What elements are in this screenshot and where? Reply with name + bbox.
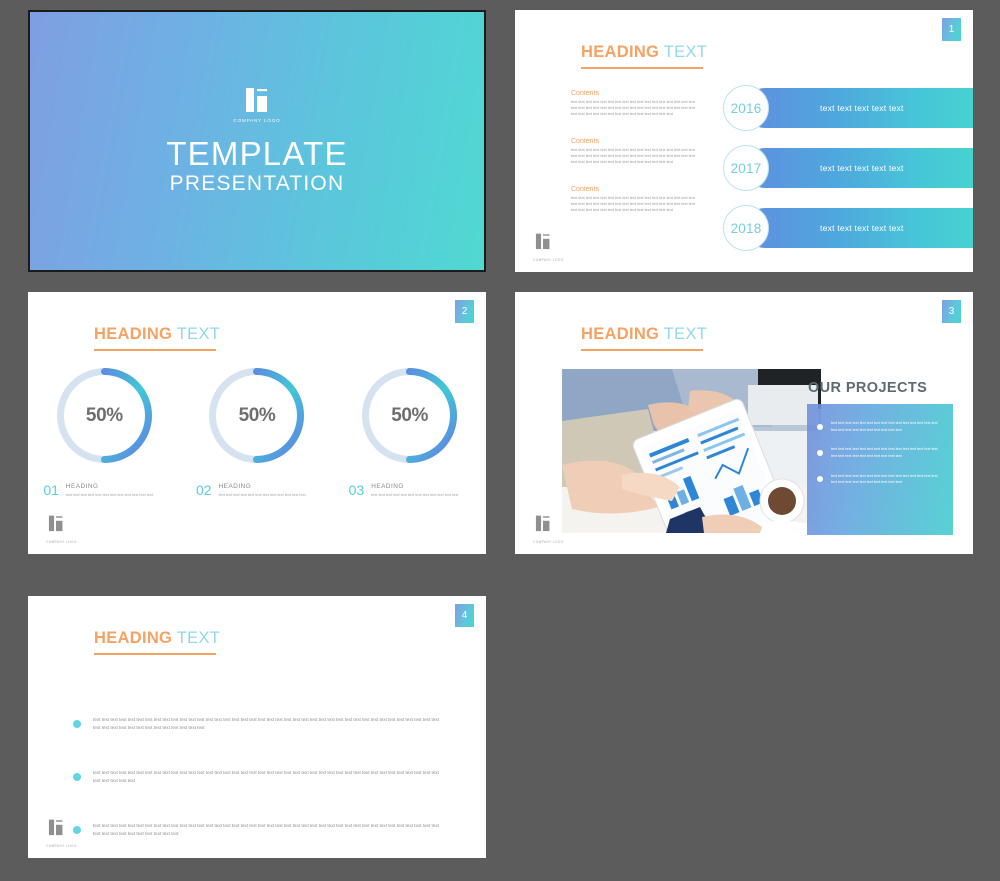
bullet-text: text text text text text text text text … <box>93 716 446 732</box>
donut-caption: 01 HEADING text text text text text text… <box>43 483 165 498</box>
footer-logo-caption: COMPANY LOGO <box>46 540 77 544</box>
panel-text: text text text text text text text text … <box>831 446 943 459</box>
slide-1-timeline[interactable]: 1 HEADING TEXT Contents text text text t… <box>515 10 973 272</box>
heading-light: TEXT <box>664 325 707 343</box>
bullet-row: text text text text text text text text … <box>73 822 446 838</box>
page-badge: 2 <box>455 300 474 323</box>
page-badge: 1 <box>942 18 961 41</box>
bullet-row: text text text text text text text text … <box>73 769 446 785</box>
donut-cell: 50% 03 HEADING text text text text text … <box>345 364 475 498</box>
slide-deck-overview: COMPANY LOGO TEMPLATE PRESENTATION 1 HEA… <box>0 0 1000 881</box>
contents-body: text text text text text text text text … <box>571 195 701 213</box>
contents-block: Contents text text text text text text t… <box>571 138 701 165</box>
timeline-bar: text text text text text <box>745 208 973 248</box>
contents-column: Contents text text text text text text t… <box>571 90 701 234</box>
donut-heading: HEADING <box>219 483 306 490</box>
donut-percent-label: 50% <box>53 364 156 467</box>
bullet-row: text text text text text text text text … <box>73 716 446 732</box>
heading-strong: HEADING <box>581 43 659 61</box>
donut-body: text text text text text text text text … <box>66 492 153 498</box>
company-logo-icon <box>533 233 553 251</box>
projects-panel: text text text text text text text text … <box>807 404 953 535</box>
timeline-row[interactable]: text text text text text 2017 <box>723 145 973 190</box>
contents-block: Contents text text text text text text t… <box>571 186 701 213</box>
donut-percent-label: 50% <box>358 364 461 467</box>
donut-body: text text text text text text text text … <box>371 492 458 498</box>
heading-underline <box>581 67 703 69</box>
timeline-year-circle: 2017 <box>723 145 769 191</box>
donut-cell: 50% 02 HEADING text text text text text … <box>192 364 322 498</box>
logo-caption: COMPANY LOGO <box>234 118 281 123</box>
timeline-text: text text text text text <box>820 223 904 233</box>
page-badge: 4 <box>455 604 474 627</box>
timeline-year-circle: 2018 <box>723 205 769 251</box>
contents-title: Contents <box>571 138 701 145</box>
company-logo-icon <box>533 515 553 533</box>
slide-heading: HEADING TEXT <box>94 629 220 648</box>
timeline-bar: text text text text text <box>745 148 973 188</box>
donut-index: 02 <box>196 483 212 497</box>
heading-underline <box>581 349 703 351</box>
presentation-title: TEMPLATE <box>166 137 347 172</box>
bullet-dot-icon <box>817 476 823 482</box>
donut-chart: 50% <box>53 364 156 467</box>
slide-4-bullets[interactable]: 4 HEADING TEXT text text text text text … <box>28 596 486 858</box>
contents-title: Contents <box>571 186 701 193</box>
bullet-dot-icon <box>817 424 823 430</box>
footer-logo-caption: COMPANY LOGO <box>46 844 77 848</box>
donut-body: text text text text text text text text … <box>219 492 306 498</box>
slide-heading: HEADING TEXT <box>581 325 707 344</box>
heading-strong: HEADING <box>94 629 172 647</box>
footer-logo-caption: COMPANY LOGO <box>533 258 564 262</box>
panel-item: text text text text text text text text … <box>817 420 943 433</box>
donut-cell: 50% 01 HEADING text text text text text … <box>39 364 169 498</box>
heading-strong: HEADING <box>581 325 659 343</box>
projects-title: OUR PROJECTS <box>808 380 927 396</box>
heading-underline <box>94 653 216 655</box>
timeline-bar: text text text text text <box>745 88 973 128</box>
donut-chart: 50% <box>358 364 461 467</box>
heading-underline <box>94 349 216 351</box>
donut-heading: HEADING <box>371 483 458 490</box>
contents-block: Contents text text text text text text t… <box>571 90 701 117</box>
slide-title[interactable]: COMPANY LOGO TEMPLATE PRESENTATION <box>28 10 486 272</box>
slide-heading: HEADING TEXT <box>581 43 707 62</box>
contents-body: text text text text text text text text … <box>571 147 701 165</box>
bullet-dot-icon <box>817 450 823 456</box>
footer-logo: COMPANY LOGO <box>46 515 77 544</box>
timeline-year-circle: 2016 <box>723 85 769 131</box>
heading-light: TEXT <box>664 43 707 61</box>
company-logo-icon <box>46 819 66 837</box>
timeline-row[interactable]: text text text text text 2018 <box>723 205 973 250</box>
footer-logo-caption: COMPANY LOGO <box>533 540 564 544</box>
heading-strong: HEADING <box>94 325 172 343</box>
timeline-text: text text text text text <box>820 103 904 113</box>
donut-index: 01 <box>43 483 59 497</box>
timeline-text: text text text text text <box>820 163 904 173</box>
donut-row: 50% 01 HEADING text text text text text … <box>28 364 486 498</box>
footer-logo: COMPANY LOGO <box>533 233 564 262</box>
slide-heading: HEADING TEXT <box>94 325 220 344</box>
photo-illustration <box>562 369 821 533</box>
project-photo <box>562 369 821 533</box>
footer-logo: COMPANY LOGO <box>533 515 564 544</box>
company-logo-icon <box>242 87 272 115</box>
contents-body: text text text text text text text text … <box>571 99 701 117</box>
donut-chart: 50% <box>205 364 308 467</box>
bullet-list: text text text text text text text text … <box>73 716 446 858</box>
donut-caption: 02 HEADING text text text text text text… <box>196 483 318 498</box>
timeline-row[interactable]: text text text text text 2016 <box>723 85 973 130</box>
slide-3-projects[interactable]: 3 HEADING TEXT <box>515 292 973 554</box>
panel-text: text text text text text text text text … <box>831 420 943 433</box>
heading-light: TEXT <box>177 325 220 343</box>
bullet-dot-icon <box>73 773 81 781</box>
donut-heading: HEADING <box>66 483 153 490</box>
company-logo-icon <box>46 515 66 533</box>
panel-item: text text text text text text text text … <box>817 473 943 486</box>
footer-logo: COMPANY LOGO <box>46 819 77 848</box>
heading-light: TEXT <box>177 629 220 647</box>
contents-title: Contents <box>571 90 701 97</box>
donut-percent-label: 50% <box>205 364 308 467</box>
slide-2-statistics[interactable]: 2 HEADING TEXT <box>28 292 486 554</box>
bullet-text: text text text text text text text text … <box>93 822 446 838</box>
presentation-subtitle: PRESENTATION <box>170 172 345 195</box>
timeline-list: text text text text text 2016 text text … <box>723 85 973 265</box>
panel-text: text text text text text text text text … <box>831 473 943 486</box>
page-badge: 3 <box>942 300 961 323</box>
bullet-text: text text text text text text text text … <box>93 769 446 785</box>
donut-caption: 03 HEADING text text text text text text… <box>349 483 471 498</box>
bullet-dot-icon <box>73 720 81 728</box>
panel-item: text text text text text text text text … <box>817 446 943 459</box>
donut-index: 03 <box>349 483 365 497</box>
